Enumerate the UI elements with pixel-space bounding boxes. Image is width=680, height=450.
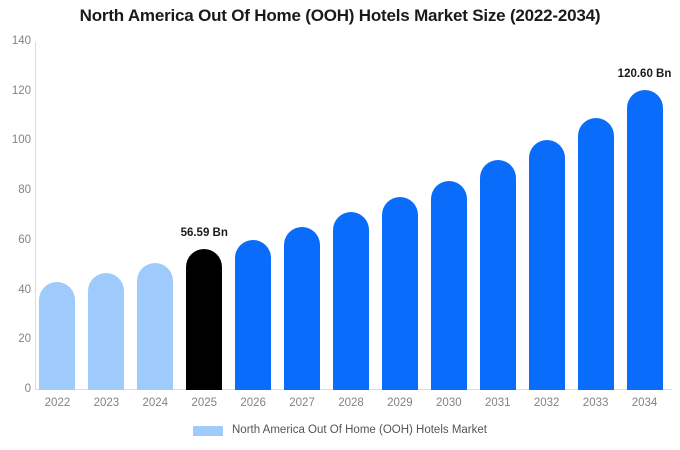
bar-2032[interactable]: [529, 140, 565, 390]
x-tick-label-2031: 2031: [473, 398, 522, 410]
x-tick-label-2028: 2028: [327, 398, 376, 410]
bar-2034[interactable]: [627, 90, 663, 390]
x-tick-label-2025: 2025: [180, 398, 229, 410]
x-tick-label-2034: 2034: [620, 398, 669, 410]
chart-legend: North America Out Of Home (OOH) Hotels M…: [0, 425, 680, 437]
x-tick-label-2029: 2029: [375, 398, 424, 410]
bar-value-label-2034: 120.60 Bn: [590, 68, 680, 80]
bar-2030[interactable]: [431, 181, 467, 390]
bar-2024[interactable]: [137, 263, 173, 390]
bar-2023[interactable]: [88, 273, 124, 390]
y-tick-label: 140: [3, 36, 31, 48]
x-tick-label-2032: 2032: [522, 398, 571, 410]
bar-chart: North America Out Of Home (OOH) Hotels M…: [0, 0, 680, 450]
x-tick-label-2023: 2023: [82, 398, 131, 410]
y-axis-tick-labels: 020406080100120140: [0, 0, 31, 450]
legend-swatch-icon: [193, 426, 223, 436]
bar-2022[interactable]: [39, 282, 75, 390]
bar-2027[interactable]: [284, 227, 320, 390]
bar-2033[interactable]: [578, 118, 614, 390]
legend-label: North America Out Of Home (OOH) Hotels M…: [232, 425, 487, 437]
bar-2029[interactable]: [382, 197, 418, 390]
bar-value-label-2025: 56.59 Bn: [149, 227, 259, 239]
y-tick-label: 120: [3, 86, 31, 98]
x-tick-label-2027: 2027: [278, 398, 327, 410]
bar-2031[interactable]: [480, 160, 516, 390]
plot-area: [36, 42, 672, 390]
y-tick-label: 60: [3, 235, 31, 247]
y-tick-label: 20: [3, 334, 31, 346]
y-tick-label: 80: [3, 185, 31, 197]
y-tick-label: 100: [3, 135, 31, 147]
x-tick-label-2030: 2030: [424, 398, 473, 410]
y-tick-label: 0: [3, 384, 31, 396]
y-tick-label: 40: [3, 285, 31, 297]
bar-2025[interactable]: [186, 249, 222, 390]
x-tick-label-2033: 2033: [571, 398, 620, 410]
bar-2028[interactable]: [333, 212, 369, 390]
chart-title: North America Out Of Home (OOH) Hotels M…: [0, 6, 680, 26]
x-tick-label-2026: 2026: [229, 398, 278, 410]
bar-2026[interactable]: [235, 240, 271, 390]
x-tick-label-2024: 2024: [131, 398, 180, 410]
x-tick-label-2022: 2022: [33, 398, 82, 410]
